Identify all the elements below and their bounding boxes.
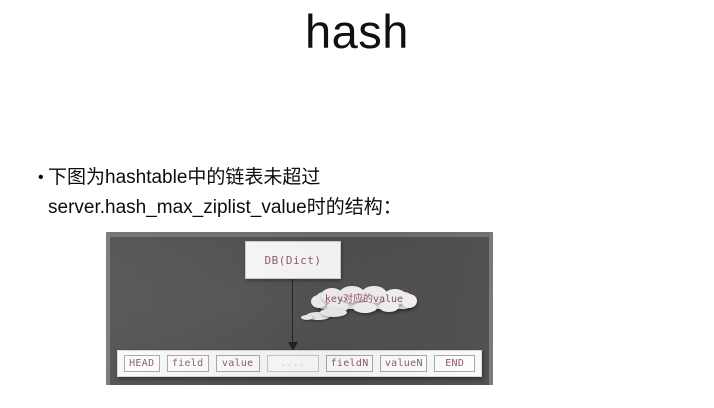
ziplist-cell-end: END: [434, 355, 475, 372]
arrow-line: [292, 279, 293, 346]
bullet-block: • 下图为hashtable中的链表未超过 server.hash_max_zi…: [34, 163, 504, 223]
bullet-text: 下图为hashtable中的链表未超过 server.hash_max_zipl…: [48, 163, 504, 223]
bullet-line-2: server.hash_max_ziplist_value时的结构：: [48, 193, 504, 223]
page-title: hash: [0, 8, 714, 55]
bullet-marker-icon: •: [34, 163, 48, 193]
diagram-image: DB(Dict) key对应的value HEAD field value ..…: [106, 232, 493, 385]
list-item: • 下图为hashtable中的链表未超过 server.hash_max_zi…: [34, 163, 504, 223]
cloud-puff-icon: [301, 315, 313, 320]
image-left-band: [106, 232, 110, 385]
ziplist-cell-fieldn: fieldN: [326, 355, 373, 372]
cloud-puff-icon: [320, 308, 347, 317]
ziplist-cell-ellipsis: ....: [267, 355, 319, 372]
db-dict-node-label: DB(Dict): [265, 254, 322, 267]
bullet-line-1: 下图为hashtable中的链表未超过: [48, 167, 320, 188]
image-top-band: [106, 232, 493, 237]
db-dict-node: DB(Dict): [245, 241, 341, 279]
ziplist-cell-head: HEAD: [124, 355, 160, 372]
cloud-callout-label: key对应的value: [309, 292, 419, 307]
ziplist-strip: HEAD field value .... fieldN valueN END: [117, 350, 482, 377]
image-right-band: [489, 232, 493, 385]
ziplist-cell-field: field: [167, 355, 209, 372]
ziplist-cell-valuen: valueN: [380, 355, 427, 372]
ziplist-cell-value: value: [216, 355, 260, 372]
